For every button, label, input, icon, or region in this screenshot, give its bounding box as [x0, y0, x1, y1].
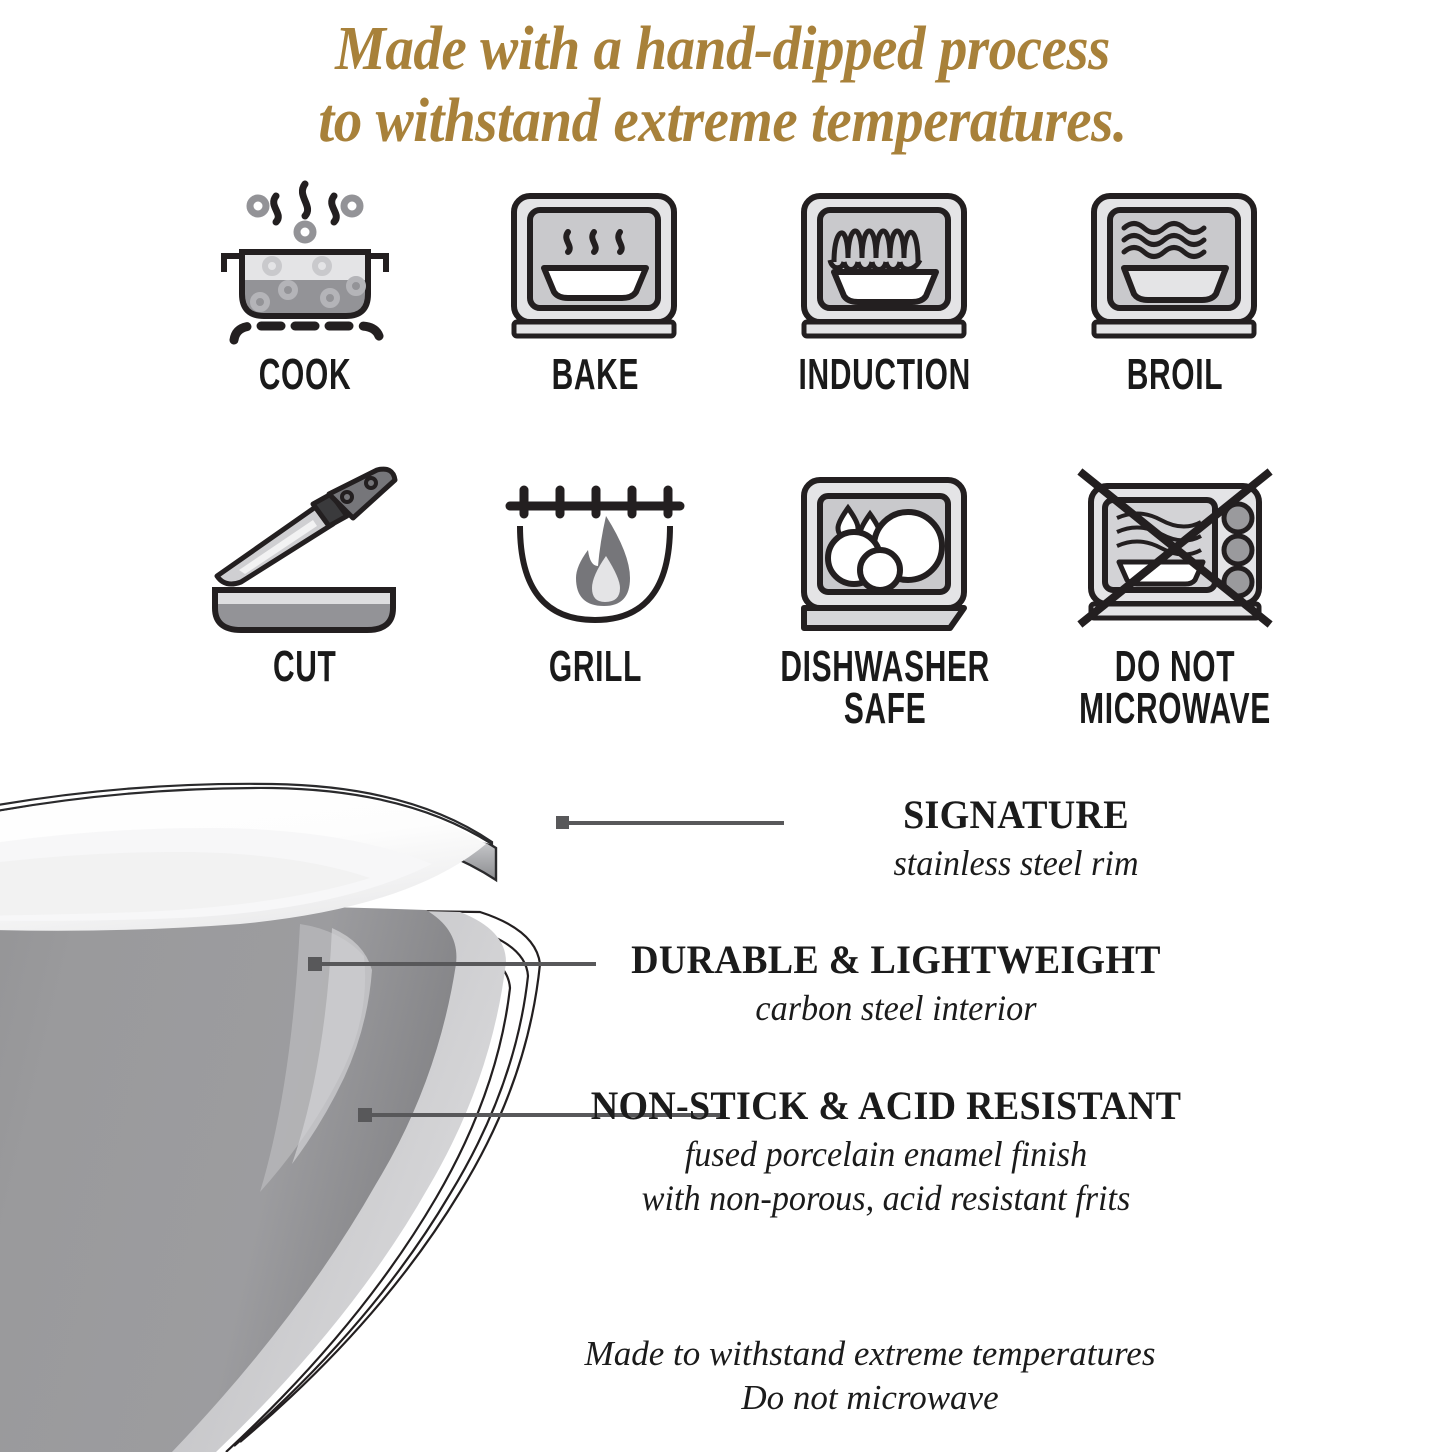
icon-cell-cook: COOK: [160, 178, 450, 396]
infographic-canvas: Made with a hand-dipped process to withs…: [0, 0, 1445, 1445]
icon-cell-dishwasher-safe: DISHWASHER SAFE: [740, 460, 1030, 730]
callout-signature: SIGNATURE stainless steel rim: [706, 793, 1326, 886]
headline-line-1: Made with a hand-dipped process: [335, 15, 1110, 83]
callout-title-signature: SIGNATURE: [722, 793, 1311, 838]
oven-broil-waves-icon: [1080, 178, 1270, 348]
callout-subtitle-signature: stainless steel rim: [722, 842, 1311, 886]
icon-label-broil: BROIL: [1127, 354, 1223, 396]
icon-cell-broil: BROIL: [1030, 178, 1320, 396]
icon-cell-induction: INDUCTION: [740, 178, 1030, 396]
icon-label-induction: INDUCTION: [799, 354, 971, 396]
dishwasher-icon: [790, 460, 980, 640]
callout-title-nonstick: NON-STICK & ACID RESISTANT: [554, 1084, 1219, 1129]
icon-label-cook: COOK: [259, 354, 351, 396]
callout-title-durable: DURABLE & LIGHTWEIGHT: [611, 938, 1181, 983]
pot-boiling-icon: [210, 178, 400, 348]
icon-cell-bake: BAKE: [450, 178, 740, 396]
page-title: Made with a hand-dipped process to withs…: [58, 14, 1387, 158]
callout-nonstick: NON-STICK & ACID RESISTANT fused porcela…: [536, 1084, 1236, 1221]
oven-bake-icon: [500, 178, 690, 348]
icon-label-dishwasher-safe: DISHWASHER SAFE: [780, 646, 990, 730]
icon-cell-do-not-microwave: DO NOT MICROWAVE: [1030, 460, 1320, 730]
leader-line-durable: [308, 957, 598, 971]
headline-line-2: to withstand extreme temperatures.: [58, 86, 1387, 158]
oven-induction-coil-icon: [790, 178, 980, 348]
callout-durable: DURABLE & LIGHTWEIGHT carbon steel inter…: [596, 938, 1196, 1031]
footer-disclaimer: Made to withstand extreme temperatures D…: [430, 1332, 1310, 1420]
icon-label-do-not-microwave: DO NOT MICROWAVE: [1079, 646, 1271, 730]
callout-subtitle-nonstick: fused porcelain enamel finish with non-p…: [554, 1133, 1219, 1221]
icon-row-1: COOK BA: [160, 178, 1320, 396]
icon-label-bake: BAKE: [551, 354, 639, 396]
microwave-crossed-out-icon: [1075, 460, 1275, 640]
callout-subtitle-durable: carbon steel interior: [611, 987, 1181, 1031]
pan-cutaway-illustration: [0, 612, 680, 1452]
